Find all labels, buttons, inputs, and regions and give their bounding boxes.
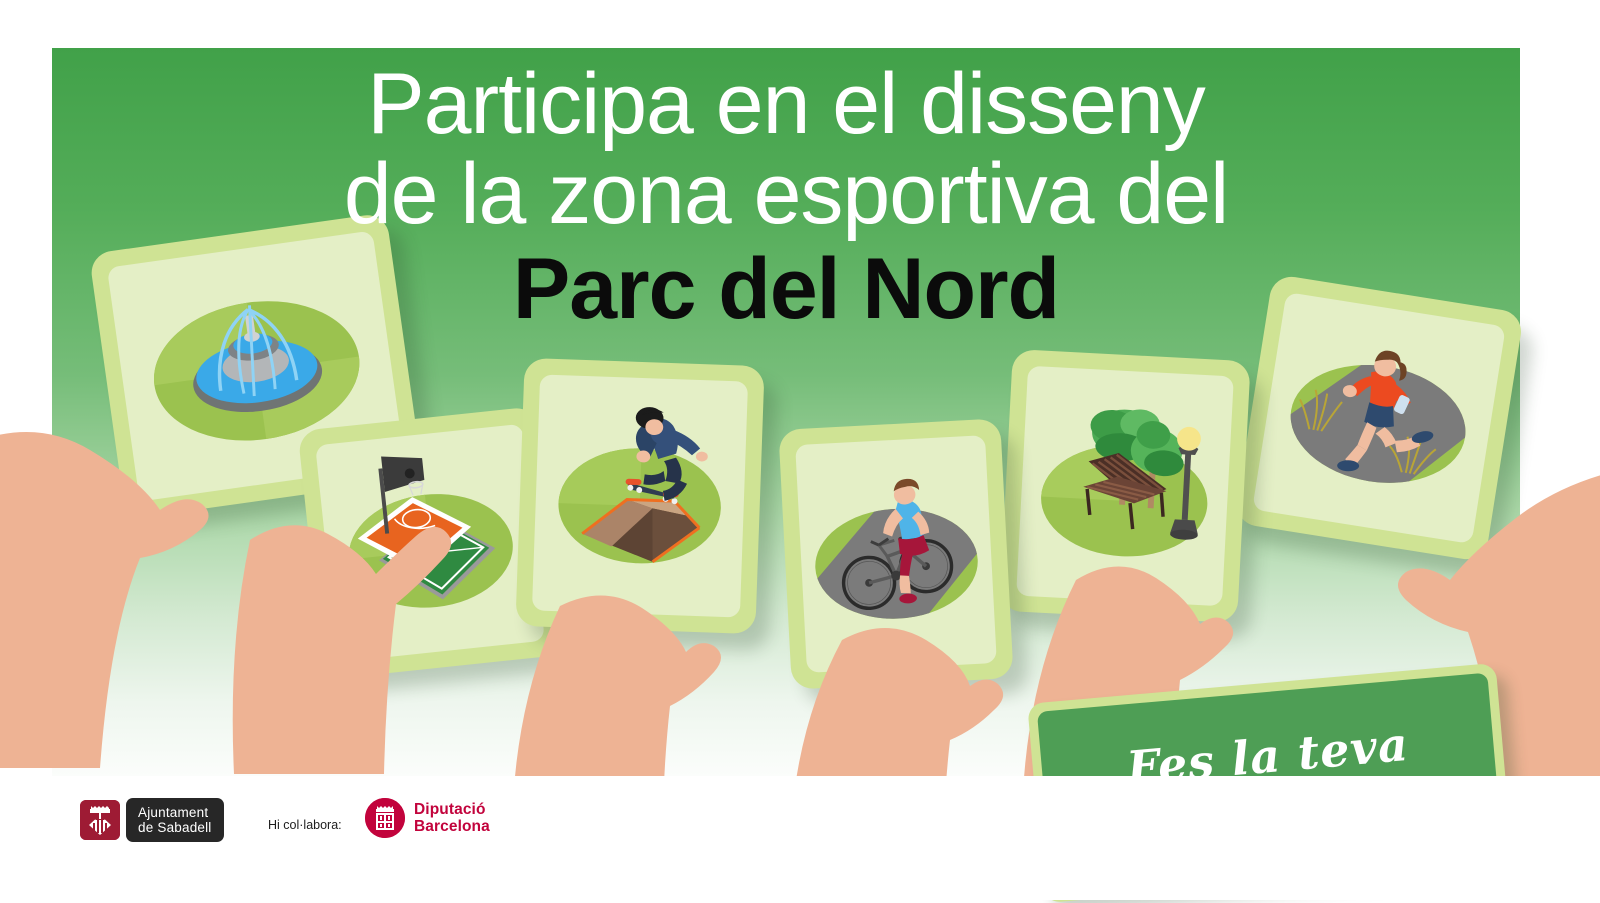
card-bench-face xyxy=(1016,366,1234,606)
ajuntament-line-1: Ajuntament xyxy=(138,805,208,820)
card-bike[interactable] xyxy=(778,418,1013,689)
ajuntament-logo[interactable]: Ajuntament de Sabadell xyxy=(80,798,224,842)
skateboard-icon xyxy=(532,374,748,617)
card-runner[interactable] xyxy=(1234,274,1524,563)
card-skate-face xyxy=(532,374,748,617)
card-bike-face xyxy=(795,435,997,673)
card-courts-face xyxy=(315,424,545,663)
sports-court-icon xyxy=(315,424,545,663)
card-bench[interactable] xyxy=(999,349,1250,623)
card-skate[interactable] xyxy=(515,358,764,634)
runner-icon xyxy=(1252,292,1506,544)
collaboration-label: Hi col·labora: xyxy=(268,818,342,832)
sabadell-crest-icon xyxy=(80,800,120,840)
poster-canvas: Participa en el disseny de la zona espor… xyxy=(0,0,1600,900)
card-runner-face xyxy=(1252,292,1506,544)
ajuntament-label: Ajuntament de Sabadell xyxy=(126,798,224,842)
diputacio-logo[interactable]: Diputació Barcelona xyxy=(365,798,490,838)
diputacio-label: Diputació Barcelona xyxy=(414,801,490,835)
ajuntament-line-2: de Sabadell xyxy=(138,820,212,835)
footer-logos: Ajuntament de Sabadell Hi col·labora: xyxy=(0,776,1600,900)
diputacio-crest-icon xyxy=(365,798,405,838)
diputacio-line-2: Barcelona xyxy=(414,818,490,835)
diputacio-line-1: Diputació xyxy=(414,801,486,818)
park-bench-icon xyxy=(1016,366,1234,606)
bicycle-icon xyxy=(795,435,997,673)
